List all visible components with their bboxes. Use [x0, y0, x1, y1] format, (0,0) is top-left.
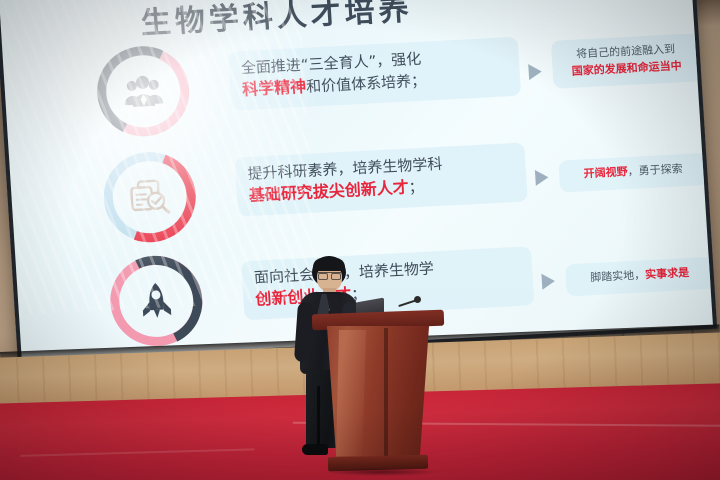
- slide-note-bubble-3: 脚踏实地，实事求是: [565, 257, 713, 296]
- lectern-highlight: [336, 330, 366, 456]
- row2-text-tail: ；: [408, 178, 424, 197]
- slide-note-bubble-1: 将自己的前途融入到 国家的发展和命运当中: [551, 33, 702, 89]
- people-group-icon: [94, 44, 192, 139]
- slide-note-bubble-2: 开阔视野，勇于探索: [558, 153, 708, 192]
- note1-lead: 将自己的前途融入到: [576, 42, 676, 60]
- icon-ring-3: [108, 254, 206, 349]
- note2-tail: ，勇于探索: [627, 162, 683, 178]
- presenter-glasses: [318, 272, 341, 278]
- arrow-icon-1: [528, 63, 542, 80]
- arrow-icon-2: [535, 169, 549, 186]
- icon-ring-1: [94, 44, 192, 139]
- arrow-icon-3: [541, 273, 555, 290]
- slide-text-bubble-1: 全面推进“三全育人”，强化 科学精神和价值体系培养；: [228, 37, 521, 111]
- row1-text-tail: 和价值体系培养；: [306, 72, 427, 96]
- stage-photograph: 新生第一课暨“科技党课”第一期 生物学科人才培养: [0, 0, 720, 480]
- carpet-seam-secondary: [20, 448, 254, 457]
- slide-text-bubble-2: 提升科研素养，培养生物学科 基础研究拔尖创新人才；: [235, 142, 528, 216]
- row1-text-emphasis: 科学精神: [242, 77, 307, 99]
- note3-emphasis: 实事求是: [645, 266, 690, 281]
- row2-text-emphasis: 基础研究拔尖创新人才: [248, 178, 409, 205]
- document-search-icon: [101, 150, 199, 245]
- presenter-fringe: [313, 258, 345, 271]
- lectern: [318, 312, 438, 472]
- lectern-floor-shadow: [322, 468, 440, 476]
- note1-emphasis: 国家的发展和命运当中: [571, 59, 682, 78]
- microphone-head: [414, 296, 421, 303]
- note2-emphasis: 开阔视野: [583, 165, 628, 180]
- lectern-edge: [384, 328, 388, 456]
- icon-ring-2: [101, 150, 199, 245]
- rocket-icon: [108, 254, 206, 349]
- note3-lead: 脚踏实地，: [590, 268, 646, 284]
